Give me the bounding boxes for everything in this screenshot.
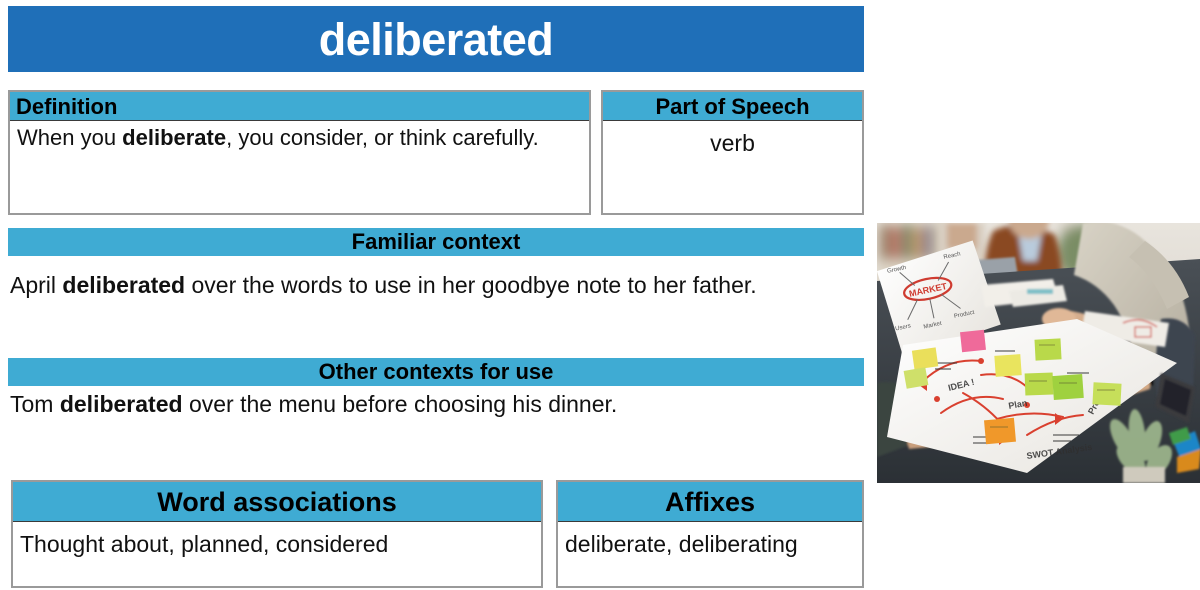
word-associations-value: Thought about, planned, considered xyxy=(13,522,541,558)
familiar-context-text-after: over the words to use in her goodbye not… xyxy=(185,272,757,298)
other-contexts-header: Other contexts for use xyxy=(8,358,864,386)
other-contexts-text: Tom deliberated over the menu before cho… xyxy=(8,386,864,420)
part-of-speech-header: Part of Speech xyxy=(603,92,862,121)
familiar-context-text-before: April xyxy=(10,272,62,298)
definition-text-before: When you xyxy=(17,125,122,150)
part-of-speech-box: Part of Speech verb xyxy=(601,90,864,215)
affixes-value: deliberate, deliberating xyxy=(558,522,862,558)
other-contexts-text-after: over the menu before choosing his dinner… xyxy=(183,391,618,417)
word-associations-header: Word associations xyxy=(13,482,541,522)
familiar-context-text: April deliberated over the words to use … xyxy=(8,256,864,309)
collaboration-photo: MARKET GrowthReach UsersProduct Market xyxy=(877,223,1200,483)
definition-header: Definition xyxy=(10,92,589,121)
definition-keyword: deliberate xyxy=(122,125,226,150)
page-title: deliberated xyxy=(319,17,554,62)
vocabulary-word-study-sheet: deliberated Definition When you delibera… xyxy=(0,0,1200,590)
other-contexts-keyword: deliberated xyxy=(60,391,183,417)
familiar-context-section: Familiar context April deliberated over … xyxy=(8,228,864,309)
affixes-box: Affixes deliberate, deliberating xyxy=(556,480,864,588)
familiar-context-header: Familiar context xyxy=(8,228,864,256)
part-of-speech-value: verb xyxy=(603,121,862,157)
other-contexts-text-before: Tom xyxy=(10,391,60,417)
word-title-banner: deliberated xyxy=(8,6,864,72)
other-contexts-section: Other contexts for use Tom deliberated o… xyxy=(8,358,864,420)
definition-text: When you deliberate, you consider, or th… xyxy=(10,121,589,151)
familiar-context-keyword: deliberated xyxy=(62,272,185,298)
affixes-header: Affixes xyxy=(558,482,862,522)
word-associations-box: Word associations Thought about, planned… xyxy=(11,480,543,588)
definition-box: Definition When you deliberate, you cons… xyxy=(8,90,591,215)
definition-text-after: , you consider, or think carefully. xyxy=(226,125,539,150)
collaboration-photo-graphic: MARKET GrowthReach UsersProduct Market xyxy=(877,223,1200,483)
